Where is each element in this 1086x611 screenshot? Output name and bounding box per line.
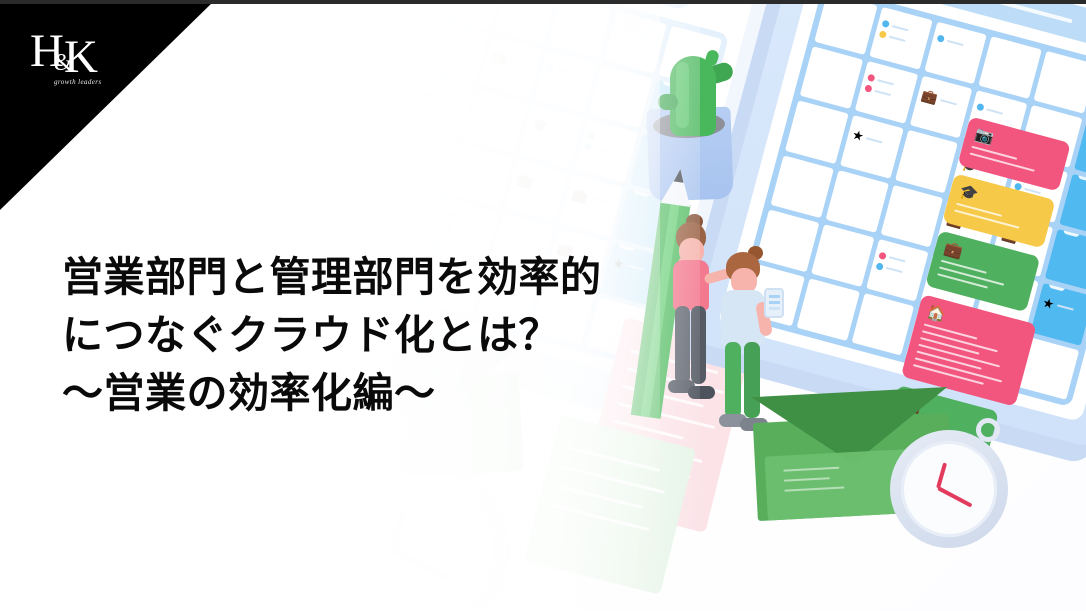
event-dot-blue: [881, 19, 890, 28]
logo-tagline: growth leaders: [54, 78, 102, 86]
event-line: [877, 79, 894, 85]
event-dot-blue: [977, 103, 986, 112]
calendar-cell: [814, 0, 877, 55]
calendar-cell: [771, 155, 834, 218]
cell-tab: [870, 293, 887, 302]
calendar-cell: ★: [840, 115, 903, 178]
event-dot-pink: [867, 74, 876, 83]
cell-tab: [928, 76, 945, 85]
event-line: [889, 35, 906, 41]
pocket-watch-icon: [890, 430, 1008, 548]
cell-tab: [942, 22, 959, 31]
event-line: [866, 137, 883, 143]
event-dot-blue: [875, 262, 884, 271]
cell-tab: [815, 278, 832, 287]
event-line: [940, 99, 957, 105]
calendar-event: [864, 84, 892, 98]
cell-tab: [913, 130, 930, 139]
cell-tab: [803, 101, 820, 110]
event-dot-yellow: [878, 30, 887, 39]
cell-tab: [899, 184, 916, 193]
cell-tab: [983, 91, 1000, 100]
cell-tab: [677, 26, 694, 35]
cell-tab: [844, 170, 861, 179]
cell-tab: [887, 7, 904, 16]
slide-title: 営業部門と管理部門を効率的 につなぐクラウド化とは？ 〜営業の効率化編〜: [62, 248, 602, 423]
smartphone-icon: [764, 288, 784, 318]
calendar-event: [936, 34, 964, 48]
event-dot-blue: [936, 34, 945, 43]
title-line-2: につなぐクラウド化とは？: [62, 306, 602, 364]
cell-tab: [884, 239, 901, 248]
cell-tab: [774, 209, 791, 218]
event-dot-pink: [878, 251, 887, 260]
title-line-3: 〜営業の効率化編〜: [62, 364, 602, 422]
calendar-cell: [1034, 51, 1086, 114]
calendar-event: [977, 103, 1005, 117]
calendar-event: [875, 262, 903, 276]
event-briefcase-icon: 💼: [920, 88, 939, 105]
brand-logo: H & K growth leaders: [30, 28, 116, 98]
slide-canvas: 💼★🎓💼💼💼★: [0, 0, 1086, 611]
cell-tab: [1052, 51, 1069, 60]
calendar-cell: [979, 36, 1042, 99]
cell-tab: [789, 155, 806, 164]
calendar-event: [878, 30, 906, 44]
calendar-cell: [866, 239, 929, 302]
calendar-cell: [796, 278, 859, 341]
event-line: [987, 108, 1004, 114]
event-line: [888, 256, 905, 262]
calendar-cell: [851, 293, 914, 356]
cell-tab: [997, 36, 1014, 45]
top-edge-bar: [0, 0, 1086, 4]
calendar-cell: [825, 170, 888, 233]
cell-tab: [818, 46, 835, 55]
calendar-event: 💼: [920, 88, 958, 110]
title-line-1: 営業部門と管理部門を効率的: [62, 248, 602, 306]
calendar-cell: [924, 22, 987, 85]
calendar-cell: [800, 46, 863, 109]
cell-tab: [1037, 105, 1054, 114]
logo-letter-k: K: [64, 34, 98, 81]
calendar-cell: [869, 7, 932, 70]
calendar-event: ★: [851, 128, 885, 149]
cell-tab: [829, 224, 846, 233]
calendar-cell: [785, 101, 848, 164]
calendar-cell: [855, 61, 918, 124]
calendar-cell: 💼: [909, 76, 972, 139]
event-line: [946, 39, 963, 45]
calendar-cell: [895, 130, 958, 193]
event-dot-pink: [864, 84, 873, 93]
cell-tab: [873, 61, 890, 70]
cell-tab: [858, 115, 875, 124]
cactus-icon: [660, 48, 724, 136]
event-line: [1057, 304, 1074, 310]
event-line: [885, 267, 902, 273]
event-line: [874, 89, 891, 95]
calendar-cell: [880, 184, 943, 247]
event-star-icon: ★: [851, 128, 866, 144]
event-line: [892, 25, 909, 31]
calendar-cell: [811, 224, 874, 287]
